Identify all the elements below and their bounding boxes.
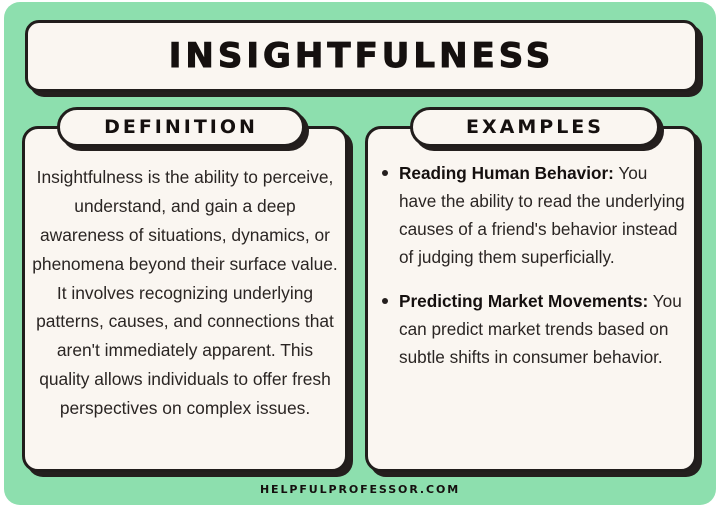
example-term: Predicting Market Movements: [399, 291, 648, 311]
examples-heading-label: EXAMPLES [466, 118, 604, 137]
examples-list: Reading Human Behavior: You have the abi… [378, 160, 686, 372]
examples-heading-pill: EXAMPLES [410, 107, 660, 147]
definition-heading-pill: DEFINITION [57, 107, 305, 147]
example-term: Reading Human Behavior: [399, 163, 614, 183]
page-title: INSIGHTFULNESS [169, 39, 554, 73]
list-item: Reading Human Behavior: You have the abi… [378, 160, 686, 271]
bullet-dot-icon [382, 170, 388, 176]
footer-watermark: HELPFULPROFESSOR.COM [0, 483, 720, 496]
infographic-root: INSIGHTFULNESS DEFINITION EXAMPLES Insig… [0, 0, 720, 509]
definition-heading-label: DEFINITION [104, 118, 258, 137]
list-item: Predicting Market Movements: You can pre… [378, 288, 686, 372]
title-banner: INSIGHTFULNESS [25, 20, 698, 92]
definition-body-text: Insightfulness is the ability to perceiv… [30, 163, 340, 423]
bullet-dot-icon [382, 298, 388, 304]
